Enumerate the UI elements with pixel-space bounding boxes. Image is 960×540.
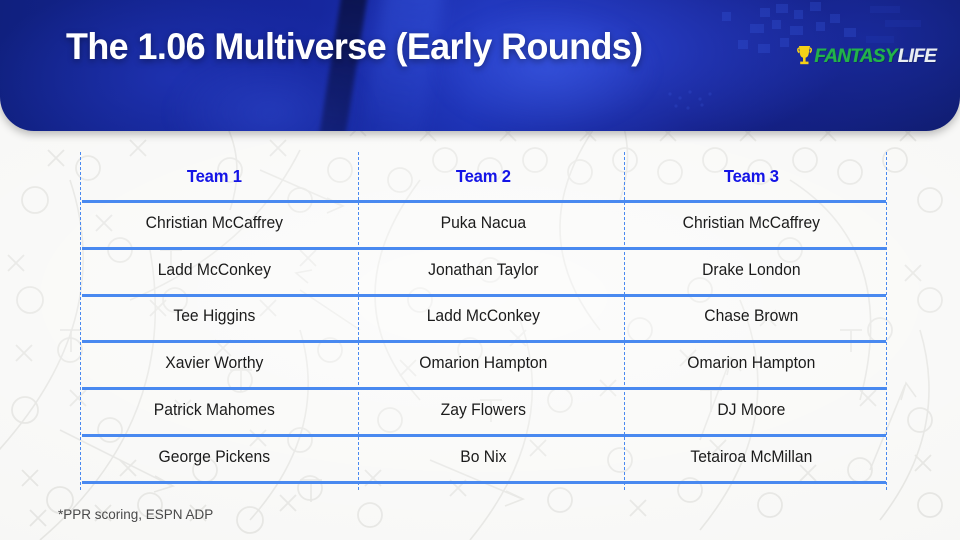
teams-table: Team 1 Team 2 Team 3 Christian McCaffrey… [80,152,886,490]
logo-text-life: LIFE [898,47,936,66]
cell-team2-pick4: Omarion Hampton [355,354,610,373]
cell-team1-pick5: Patrick Mahomes [87,401,342,420]
column-divider-right [886,152,887,490]
cell-team3-pick5: DJ Moore [624,401,879,420]
column-header-team-3: Team 3 [624,166,879,187]
row-divider-5 [82,434,886,437]
table-header-row: Team 1 Team 2 Team 3 [80,152,886,200]
cell-team2-pick2: Jonathan Taylor [355,261,610,280]
cell-team1-pick2: Ladd McConkey [87,261,342,280]
fantasy-life-logo[interactable]: FANTASY LIFE [796,43,936,69]
row-divider-4 [82,387,886,390]
table-row: Tee Higgins Ladd McConkey Chase Brown [80,294,886,341]
row-divider-2 [82,294,886,297]
page-title: The 1.06 Multiverse (Early Rounds) [66,26,643,68]
column-header-team-1: Team 1 [87,166,342,187]
cell-team1-pick4: Xavier Worthy [87,354,342,373]
cell-team2-pick6: Bo Nix [355,448,610,467]
footnote: *PPR scoring, ESPN ADP [58,507,213,522]
table-row: Christian McCaffrey Puka Nacua Christian… [80,200,886,247]
cell-team1-pick3: Tee Higgins [87,307,342,326]
table-row: Xavier Worthy Omarion Hampton Omarion Ha… [80,340,886,387]
row-divider-0 [82,200,886,203]
row-divider-3 [82,340,886,343]
table-row: Ladd McConkey Jonathan Taylor Drake Lond… [80,247,886,294]
cell-team1-pick1: Christian McCaffrey [87,214,342,233]
teams-table-container: Team 1 Team 2 Team 3 Christian McCaffrey… [80,152,886,490]
row-divider-6 [82,481,886,484]
cell-team3-pick1: Christian McCaffrey [624,214,879,233]
row-divider-1 [82,247,886,250]
slide-canvas: The 1.06 Multiverse (Early Rounds) FANTA… [0,0,960,540]
trophy-icon [796,44,813,68]
cell-team3-pick6: Tetairoa McMillan [624,448,879,467]
cell-team2-pick5: Zay Flowers [355,401,610,420]
cell-team3-pick2: Drake London [624,261,879,280]
table-row: George Pickens Bo Nix Tetairoa McMillan [80,434,886,481]
cell-team3-pick3: Chase Brown [624,307,879,326]
column-header-team-2: Team 2 [355,166,610,187]
logo-text-fantasy: FANTASY [814,47,896,66]
cell-team2-pick3: Ladd McConkey [355,307,610,326]
cell-team1-pick6: George Pickens [87,448,342,467]
table-row: Patrick Mahomes Zay Flowers DJ Moore [80,387,886,434]
cell-team3-pick4: Omarion Hampton [624,354,879,373]
header-banner: The 1.06 Multiverse (Early Rounds) FANTA… [0,0,960,131]
cell-team2-pick1: Puka Nacua [355,214,610,233]
